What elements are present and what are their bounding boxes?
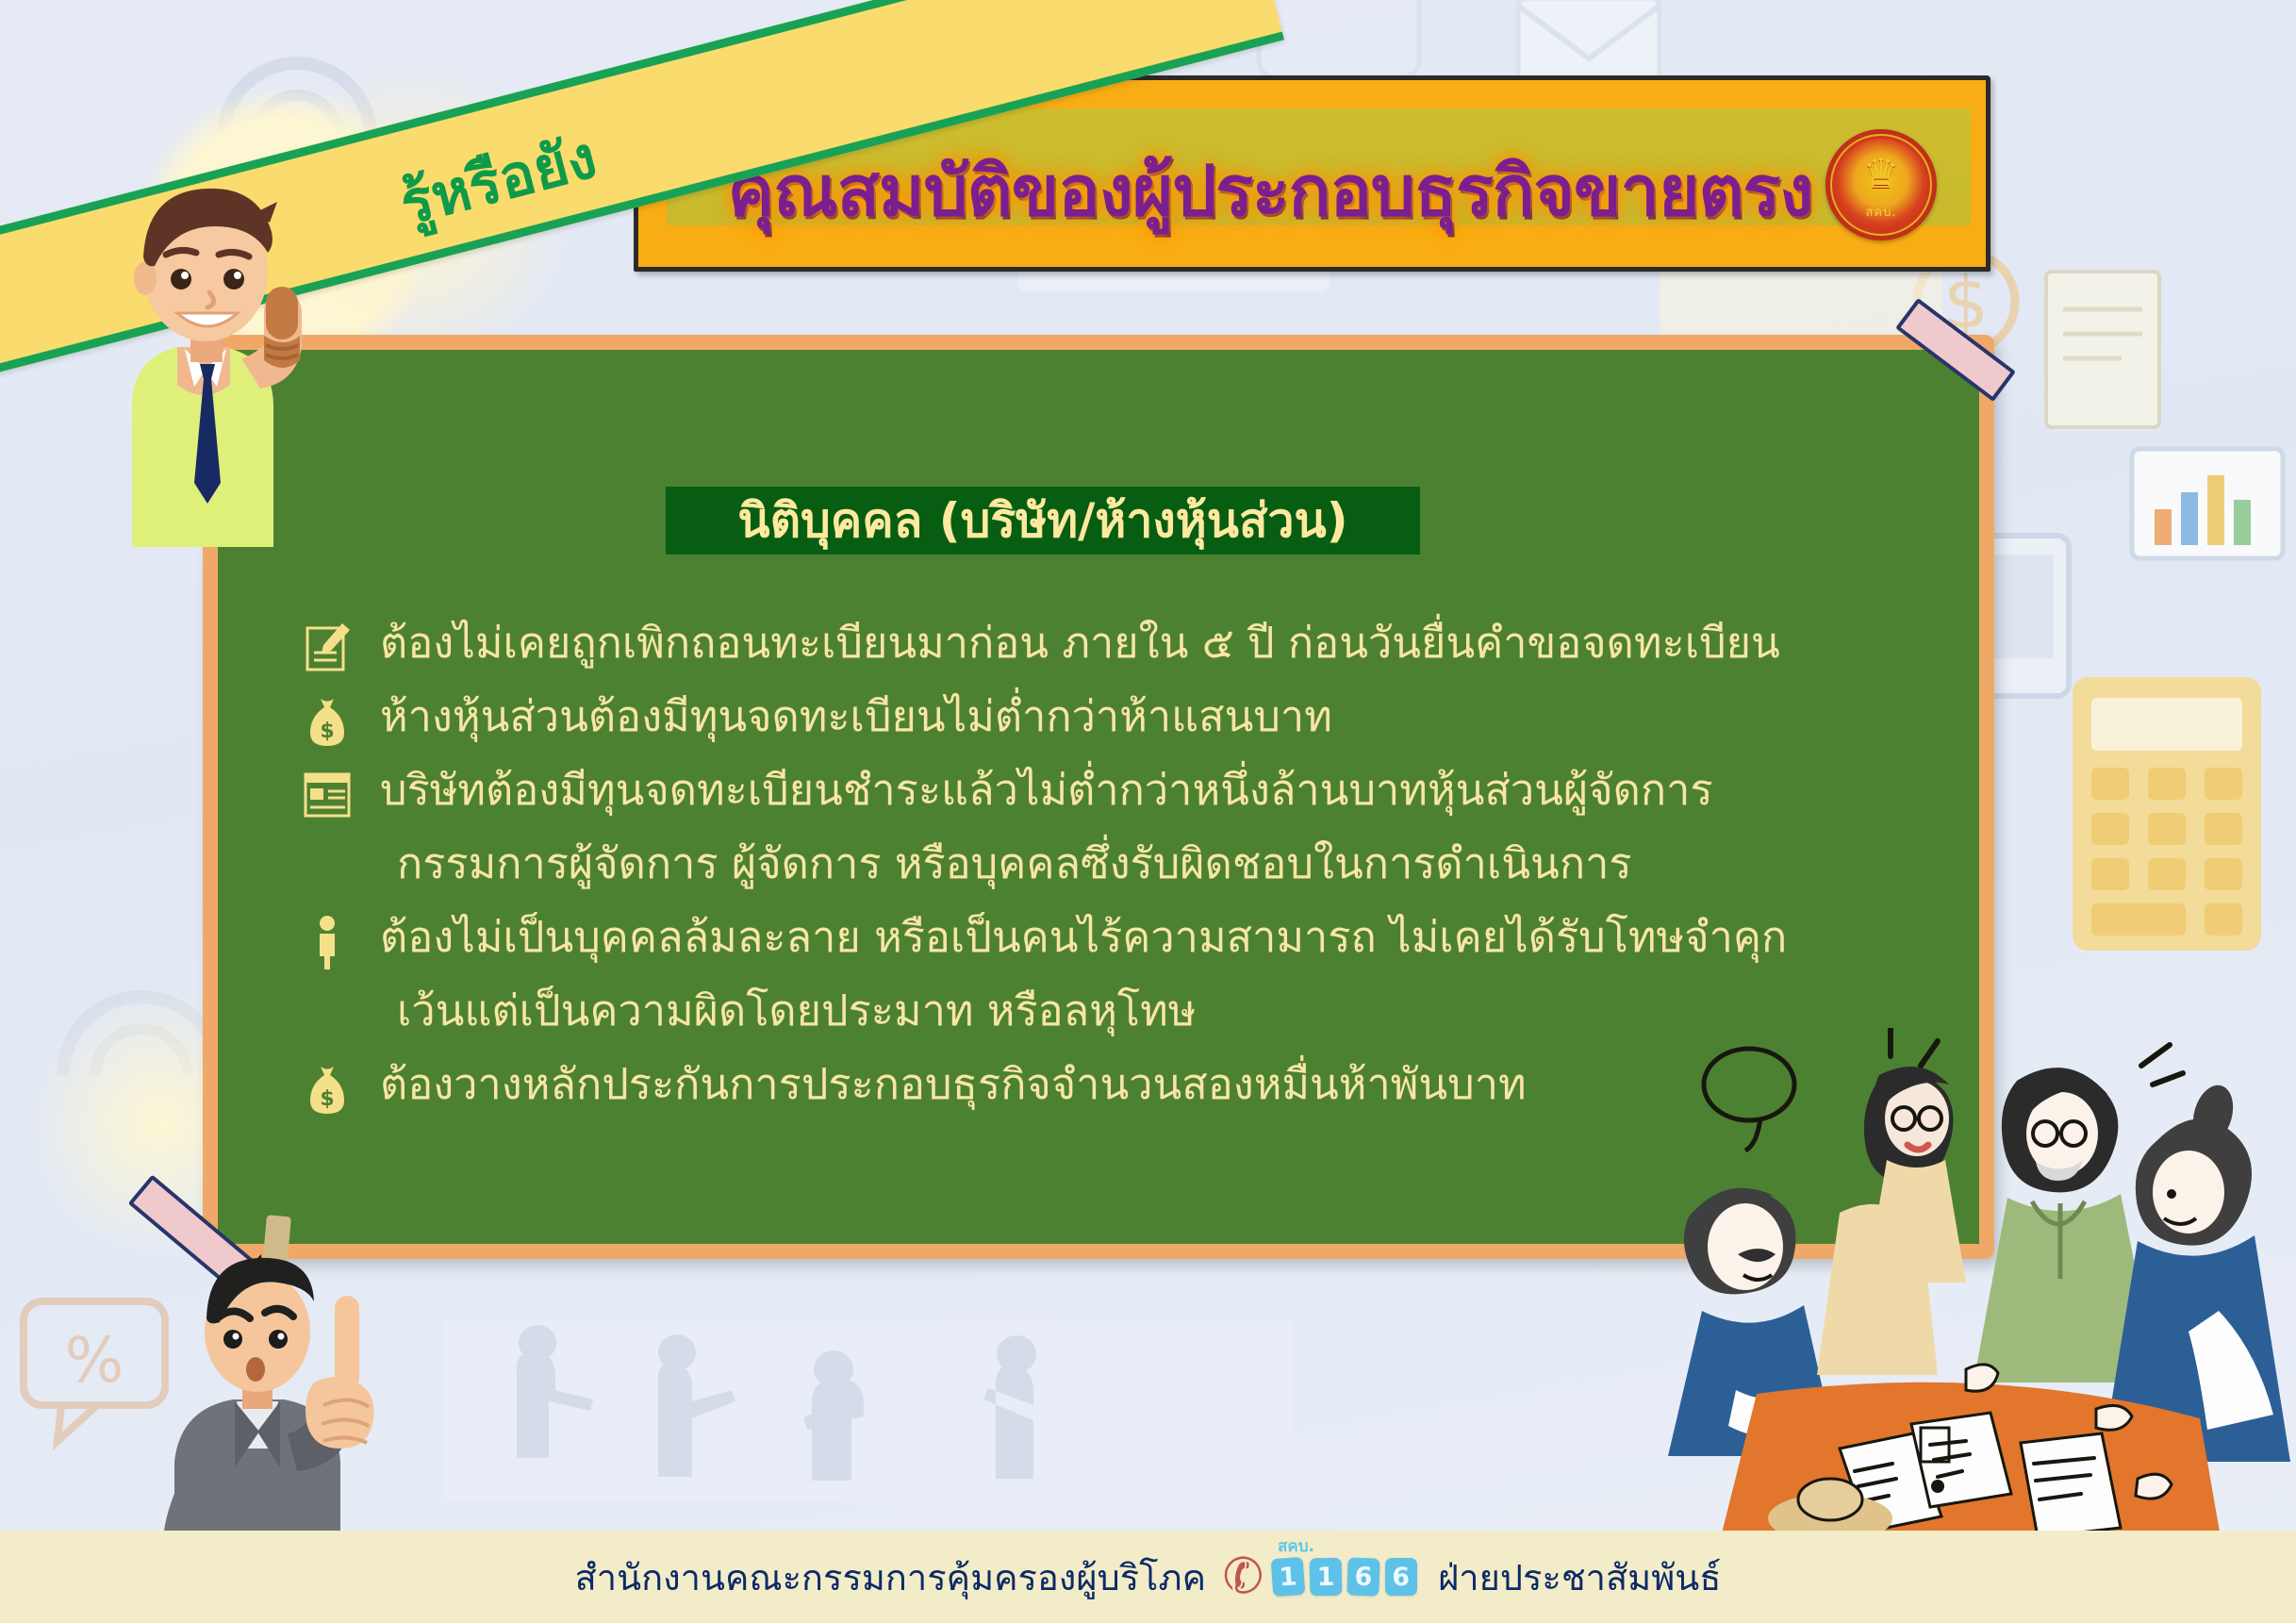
man-pointing-up-illustration <box>156 1254 429 1575</box>
list-item-text: เว้นแต่เป็นความผิดโดยประมาท หรือลหุโทษ <box>380 982 1196 1037</box>
people-meeting-illustration <box>1655 1028 2296 1537</box>
list-item-text: ต้องไม่เคยถูกเพิกถอนทะเบียนมาก่อน ภายใน … <box>380 614 1780 670</box>
list-item-text: ต้องไม่เป็นบุคคลล้มละลาย หรือเป็นคนไร้คว… <box>380 908 1787 964</box>
svg-text:$: $ <box>320 1087 334 1111</box>
svg-text:%: % <box>65 1324 124 1397</box>
list-item: บริษัทต้องมีทุนจดทะเบียนชำระแล้วไม่ต่ำกว… <box>274 761 1941 835</box>
seal-glyph: ♛ <box>1825 154 1937 195</box>
seal-caption: สคบ. <box>1825 202 1937 222</box>
document-card-icon <box>274 761 380 821</box>
people-silhouettes-watermark <box>443 1320 1292 1499</box>
hotline-digit: 1 <box>1270 1557 1305 1597</box>
list-item-continuation: กรรมการผู้จัดการ ผู้จัดการ หรือบุคคลซึ่ง… <box>274 835 1941 908</box>
chart-screen-icon <box>2126 443 2296 585</box>
government-seal-icon: ♛ สคบ. <box>1825 129 1937 240</box>
money-bag-icon: $ <box>274 687 380 748</box>
svg-text:$: $ <box>320 720 334 743</box>
subtitle-bar: นิติบุคคล (บริษัท/ห้างหุ้นส่วน) <box>666 487 1420 555</box>
agency-name: สำนักงานคณะกรรมการคุ้มครองผู้บริโภค <box>575 1548 1206 1606</box>
list-item: ต้องไม่เคยถูกเพิกถอนทะเบียนมาก่อน ภายใน … <box>274 614 1941 687</box>
hotline-digit: 6 <box>1385 1558 1417 1596</box>
list-item-text: ต้องวางหลักประกันการประกอบธุรกิจจำนวนสอง… <box>380 1055 1527 1111</box>
registration-form-icon <box>274 614 380 675</box>
phone-handset-icon: ✆ <box>1218 1548 1268 1605</box>
department-name: ฝ่ายประชาสัมพันธ์ <box>1438 1548 1721 1606</box>
hotline-digit: 6 <box>1346 1557 1379 1596</box>
list-item: $ ห้างหุ้นส่วนต้องมีทุนจดทะเบียนไม่ต่ำกว… <box>274 687 1941 761</box>
subtitle-text: นิติบุคคล (บริษัท/ห้างหุ้นส่วน) <box>737 497 1347 544</box>
calculator-icon <box>2065 670 2282 962</box>
page-title: คุณสมบัติของผู้ประกอบธุรกิจขายตรง <box>723 135 1817 246</box>
document-icon <box>2037 264 2178 443</box>
list-item: ต้องไม่เป็นบุคคลล้มละลาย หรือเป็นคนไร้คว… <box>274 908 1941 982</box>
list-item-text: กรรมการผู้จัดการ ผู้จัดการ หรือบุคคลซึ่ง… <box>380 835 1632 890</box>
money-bag-icon: $ <box>274 1055 380 1116</box>
list-item-text: ห้างหุ้นส่วนต้องมีทุนจดทะเบียนไม่ต่ำกว่า… <box>380 687 1332 743</box>
person-icon <box>274 908 380 969</box>
list-item-text: บริษัทต้องมีทุนจดทะเบียนชำระแล้วไม่ต่ำกว… <box>380 761 1713 817</box>
hotline-logo: สคบ. ✆ 1 1 6 6 <box>1223 1539 1421 1615</box>
man-thumbs-up-illustration <box>94 151 339 547</box>
hotline-label: สคบ. <box>1278 1533 1314 1559</box>
footer-bar: สำนักงานคณะกรรมการคุ้มครองผู้บริโภค สคบ.… <box>0 1531 2296 1623</box>
hotline-digit: 1 <box>1309 1558 1342 1597</box>
